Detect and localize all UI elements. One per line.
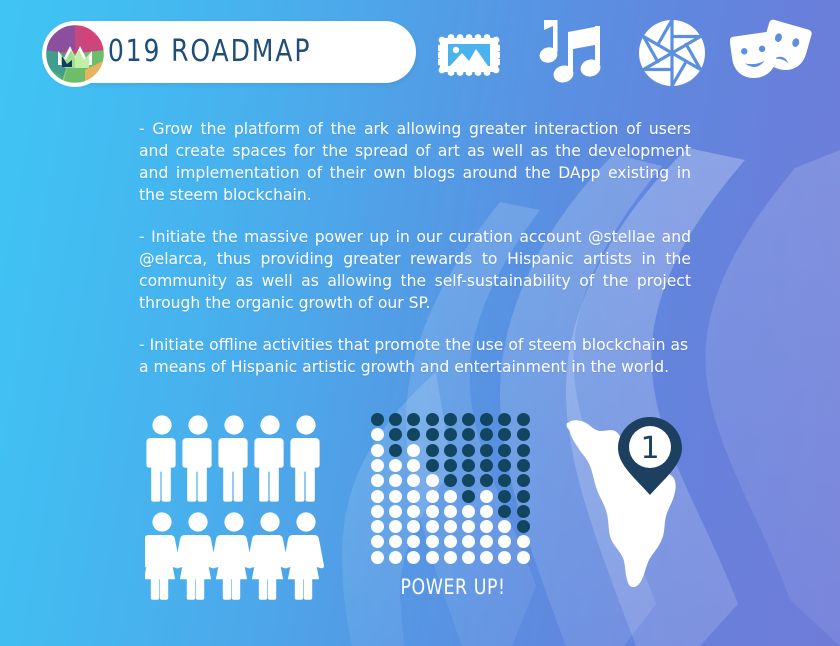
matrix-dot: [444, 551, 457, 564]
matrix-dot: [371, 474, 384, 487]
matrix-dot: [498, 520, 511, 533]
matrix-dot: [462, 474, 475, 487]
matrix-dot: [517, 551, 530, 564]
matrix-dot: [498, 413, 511, 426]
matrix-dot: [426, 490, 439, 503]
matrix-dot: [407, 428, 420, 441]
matrix-dot: [407, 535, 420, 548]
matrix-dot: [517, 520, 530, 533]
matrix-dot: [480, 413, 493, 426]
matrix-dot: [480, 520, 493, 533]
matrix-dot: [498, 474, 511, 487]
matrix-dot: [517, 444, 530, 457]
matrix-dot: [371, 459, 384, 472]
matrix-dot: [407, 459, 420, 472]
matrix-dot: [389, 459, 402, 472]
matrix-dot: [407, 505, 420, 518]
matrix-dot: [498, 551, 511, 564]
matrix-dot: [517, 413, 530, 426]
matrix-dot: [371, 505, 384, 518]
matrix-dot: [389, 490, 402, 503]
matrix-dot: [462, 535, 475, 548]
page-title: 2019 ROADMAP: [90, 23, 311, 81]
matrix-dot: [517, 505, 530, 518]
people-row-male: [146, 415, 319, 501]
matrix-dot: [498, 505, 511, 518]
matrix-dot: [517, 428, 530, 441]
matrix-dot: [517, 535, 530, 548]
matrix-dot: [498, 490, 511, 503]
people-row-female: [145, 512, 324, 599]
matrix-dot: [462, 520, 475, 533]
matrix-dot: [426, 444, 439, 457]
roadmap-poster: 2019 ROADMAP: [0, 0, 840, 646]
theater-masks-icon[interactable]: [730, 18, 812, 84]
roadmap-point-1: - Grow the platform of the ark allowing …: [139, 118, 691, 206]
matrix-dot: [498, 444, 511, 457]
matrix-dot: [480, 444, 493, 457]
matrix-dot: [389, 505, 402, 518]
matrix-dot: [444, 535, 457, 548]
matrix-dot: [426, 428, 439, 441]
matrix-dot: [426, 551, 439, 564]
matrix-dot: [371, 520, 384, 533]
matrix-dot: [462, 505, 475, 518]
matrix-dot: [426, 459, 439, 472]
matrix-dot: [480, 535, 493, 548]
roadmap-point-3: - Initiate offline activities that promo…: [139, 334, 691, 378]
header: 2019 ROADMAP: [0, 0, 840, 108]
roadmap-body-copy: - Grow the platform of the ark allowing …: [139, 118, 691, 378]
power-up-caption: POWER UP!: [378, 575, 529, 599]
matrix-dot: [389, 474, 402, 487]
matrix-dot: [371, 535, 384, 548]
matrix-dot: [389, 520, 402, 533]
matrix-dot: [517, 490, 530, 503]
matrix-dot: [407, 520, 420, 533]
matrix-dot: [444, 428, 457, 441]
matrix-dot: [389, 551, 402, 564]
camera-aperture-icon[interactable]: [637, 18, 707, 88]
matrix-dot: [480, 474, 493, 487]
music-notes-icon[interactable]: [530, 18, 604, 88]
matrix-dot: [371, 490, 384, 503]
matrix-dot: [444, 444, 457, 457]
matrix-dot: [407, 490, 420, 503]
matrix-dot: [407, 474, 420, 487]
roadmap-point-2: - Initiate the massive power up in our c…: [139, 226, 691, 314]
matrix-dot: [498, 428, 511, 441]
matrix-dot: [407, 444, 420, 457]
photo-frame-icon[interactable]: [438, 18, 500, 80]
matrix-dot: [444, 413, 457, 426]
matrix-dot: [462, 444, 475, 457]
matrix-dot: [480, 459, 493, 472]
matrix-dot: [498, 459, 511, 472]
matrix-dot: [444, 490, 457, 503]
bottom-visual-row: POWER UP! 1: [0, 405, 840, 605]
matrix-dot: [480, 490, 493, 503]
matrix-dot: [480, 551, 493, 564]
community-people-pictogram: [145, 415, 330, 600]
matrix-dot: [444, 520, 457, 533]
matrix-dot: [444, 505, 457, 518]
matrix-dot: [462, 428, 475, 441]
matrix-dot: [371, 428, 384, 441]
map-pin-label: 1: [640, 431, 659, 466]
matrix-dot: [371, 551, 384, 564]
matrix-dot: [426, 505, 439, 518]
matrix-dot: [426, 520, 439, 533]
matrix-dot: [407, 551, 420, 564]
matrix-dot: [426, 413, 439, 426]
matrix-dot: [462, 551, 475, 564]
matrix-dot: [371, 413, 384, 426]
matrix-dot: [389, 413, 402, 426]
power-up-dot-matrix: [371, 413, 535, 568]
lotus-crown-logo: [41, 20, 109, 88]
matrix-dot: [407, 413, 420, 426]
matrix-dot: [426, 474, 439, 487]
matrix-dot: [517, 474, 530, 487]
matrix-dot: [480, 505, 493, 518]
matrix-dot: [498, 535, 511, 548]
matrix-dot: [371, 444, 384, 457]
matrix-dot: [480, 428, 493, 441]
latin-america-map: 1: [562, 407, 712, 595]
matrix-dot: [426, 535, 439, 548]
matrix-dot: [444, 459, 457, 472]
matrix-dot: [462, 413, 475, 426]
matrix-dot: [517, 459, 530, 472]
matrix-dot: [462, 490, 475, 503]
matrix-dot: [444, 474, 457, 487]
matrix-dot: [389, 535, 402, 548]
matrix-dot: [389, 444, 402, 457]
matrix-dot: [389, 428, 402, 441]
matrix-dot: [462, 459, 475, 472]
